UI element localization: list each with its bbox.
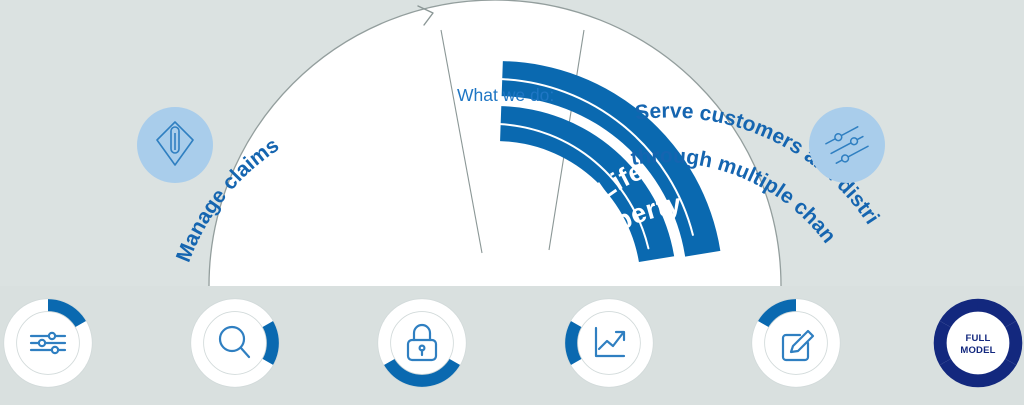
full-model-label-line1: FULL xyxy=(965,333,990,344)
edit-capability[interactable] xyxy=(752,299,841,388)
full-model-label-line2: MODEL xyxy=(960,345,995,356)
serve-customers-badge[interactable] xyxy=(809,107,885,183)
secure-capability[interactable] xyxy=(378,299,467,388)
analytics-capability[interactable] xyxy=(565,299,654,388)
full-model-capability[interactable]: FULL MODEL xyxy=(935,300,1021,386)
diagram-canvas: Manage claims Serve customers and distri… xyxy=(0,0,1024,405)
capability-icon-row: .ringwrap .seg { stroke: #ffffff; } .rin… xyxy=(0,286,1024,405)
operating-model-wheel: Manage claims Serve customers and distri… xyxy=(0,0,1024,290)
sliders-icon xyxy=(31,333,65,353)
discover-capability[interactable] xyxy=(191,299,280,388)
center-question-label: What we do: xyxy=(457,85,554,105)
manage-claims-badge[interactable] xyxy=(137,107,213,183)
settings-capability[interactable] xyxy=(4,299,93,388)
